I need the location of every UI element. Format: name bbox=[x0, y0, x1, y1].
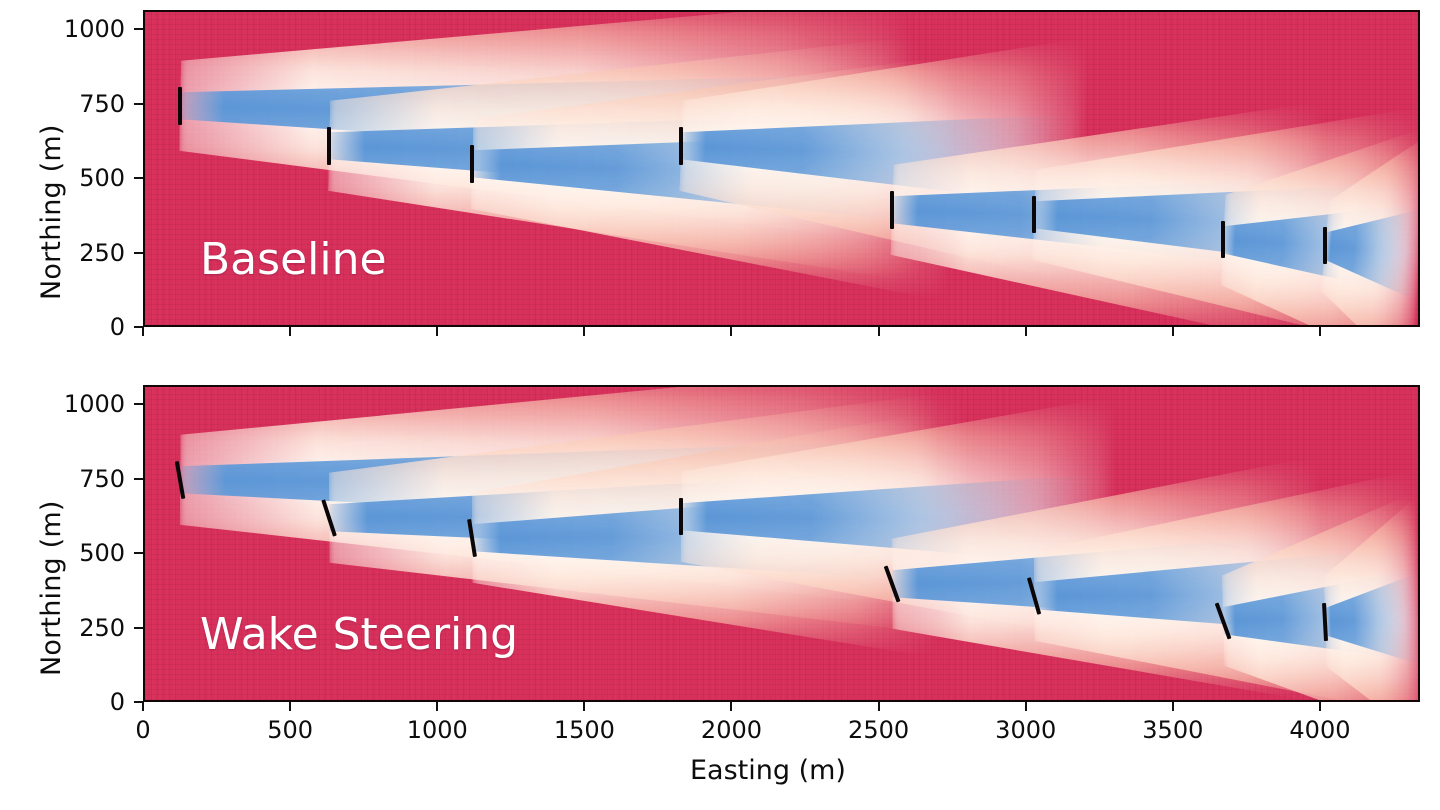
wake-plume bbox=[471, 411, 940, 661]
x-tick-label: 1000 bbox=[407, 716, 468, 744]
x-tick-label: 2500 bbox=[848, 716, 909, 744]
x-tick-label: 1500 bbox=[554, 716, 615, 744]
wake-near-field bbox=[680, 460, 751, 573]
turbine-rotor[interactable] bbox=[884, 565, 901, 602]
wake-near-field bbox=[180, 423, 251, 536]
wake-near-field bbox=[892, 526, 963, 639]
figure-root: Northing (m) 02505007501000 Baseline Nor… bbox=[0, 0, 1440, 810]
wake-plume bbox=[680, 393, 1117, 643]
wake-plume bbox=[328, 390, 970, 642]
wake-core bbox=[1220, 491, 1420, 702]
panel-wake-steering: Northing (m) 02505007501000 Wake Steerin… bbox=[0, 0, 1440, 810]
y-tick-label: 1000 bbox=[15, 390, 125, 418]
y-tick-mark bbox=[134, 627, 143, 629]
x-tick-mark bbox=[878, 702, 880, 711]
wake-halo bbox=[680, 393, 1117, 643]
wake-plume bbox=[1220, 491, 1420, 702]
wake-plume bbox=[179, 385, 940, 609]
x-tick-mark bbox=[1319, 702, 1321, 711]
panel-label-wake-steering: Wake Steering bbox=[200, 609, 518, 660]
wake-core bbox=[328, 390, 970, 642]
wake-near-field bbox=[471, 481, 542, 594]
turbine-rotor[interactable] bbox=[1215, 602, 1232, 639]
x-tick-label: 500 bbox=[267, 716, 313, 744]
wake-plume bbox=[891, 455, 1323, 702]
x-tick-mark bbox=[289, 702, 291, 711]
wake-plume bbox=[1033, 469, 1420, 702]
wake-halo bbox=[179, 385, 940, 609]
turbine-rotor[interactable] bbox=[1027, 577, 1041, 614]
x-tick-label: 0 bbox=[135, 716, 150, 744]
x-tick-label: 4000 bbox=[1289, 716, 1350, 744]
wake-near-field bbox=[1222, 562, 1295, 677]
plot-area-wake-steering: Wake Steering bbox=[143, 385, 1420, 702]
wake-halo bbox=[891, 455, 1323, 702]
x-tick-mark bbox=[1025, 702, 1027, 711]
wake-core bbox=[891, 455, 1323, 702]
wake-halo bbox=[1220, 491, 1420, 702]
y-tick-mark bbox=[134, 478, 143, 480]
y-tick-label: 0 bbox=[15, 688, 125, 716]
wake-core bbox=[1321, 495, 1420, 702]
x-tick-mark bbox=[436, 702, 438, 711]
x-tick-mark bbox=[730, 702, 732, 711]
turbine-rotor[interactable] bbox=[1322, 603, 1328, 641]
y-tick-label: 250 bbox=[15, 614, 125, 642]
y-tick-mark bbox=[134, 403, 143, 405]
y-tick-mark bbox=[134, 552, 143, 554]
turbine-rotor[interactable] bbox=[321, 500, 336, 537]
wake-near-field bbox=[1323, 564, 1396, 679]
y-tick-label: 750 bbox=[15, 465, 125, 493]
turbine-rotor[interactable] bbox=[175, 460, 185, 498]
turbine-rotor[interactable] bbox=[679, 498, 683, 536]
turbine-rotor[interactable] bbox=[467, 518, 477, 556]
wake-core bbox=[1033, 469, 1420, 702]
x-tick-mark bbox=[583, 702, 585, 711]
x-axis-label: Easting (m) bbox=[690, 755, 846, 786]
y-tick-label: 500 bbox=[15, 539, 125, 567]
x-tick-mark bbox=[142, 702, 144, 711]
wake-halo bbox=[1321, 495, 1420, 702]
y-axis-label-bottom: Northing (m) bbox=[36, 500, 67, 676]
wake-near-field bbox=[328, 461, 399, 574]
wake-halo bbox=[328, 390, 970, 642]
wake-plume bbox=[1321, 495, 1420, 702]
x-tick-label: 3500 bbox=[1142, 716, 1203, 744]
wake-core bbox=[179, 385, 940, 609]
wake-core bbox=[680, 393, 1117, 643]
wake-core bbox=[471, 411, 940, 661]
wake-halo bbox=[1033, 469, 1420, 702]
x-tick-label: 2000 bbox=[701, 716, 762, 744]
x-tick-mark bbox=[1172, 702, 1174, 711]
x-tick-label: 3000 bbox=[995, 716, 1056, 744]
wake-halo bbox=[471, 411, 940, 661]
wake-near-field bbox=[1033, 539, 1104, 652]
